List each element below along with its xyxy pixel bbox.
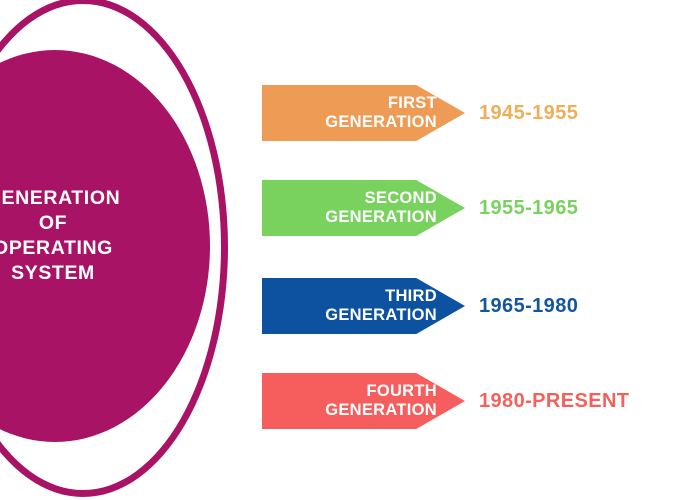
center-badge-group: GENERATION OF OPERATING SYSTEM (0, 0, 260, 500)
banner-label-line-1-fourth: FOURTH (366, 382, 456, 401)
generation-row-third: THIRD GENERATION 1965-1980 (262, 278, 578, 334)
period-text-second: 1955-1965 (479, 197, 578, 220)
banner-label-line-2-fourth: GENERATION (325, 401, 456, 420)
generation-row-second: SECOND GENERATION 1955-1965 (262, 180, 578, 236)
badge-title-line-4: SYSTEM (0, 261, 198, 286)
banner-label-line-2-third: GENERATION (325, 306, 456, 325)
generation-row-first: FIRST GENERATION 1945-1955 (262, 85, 578, 141)
banner-label-line-2-second: GENERATION (325, 208, 456, 227)
banner-arrow-second[interactable]: SECOND GENERATION (262, 180, 465, 236)
badge-title-line-3: OPERATING (0, 236, 198, 261)
generation-row-fourth: FOURTH GENERATION 1980-PRESENT (262, 373, 629, 429)
period-text-fourth: 1980-PRESENT (479, 390, 629, 413)
period-text-third: 1965-1980 (479, 295, 578, 318)
badge-title-line-2: OF (0, 211, 198, 236)
banner-label-line-1-third: THIRD (385, 287, 456, 306)
badge-title-line-1: GENERATION (0, 186, 198, 211)
banner-label-line-1-second: SECOND (365, 189, 456, 208)
banner-arrow-first[interactable]: FIRST GENERATION (262, 85, 465, 141)
badge-title: GENERATION OF OPERATING SYSTEM (0, 186, 198, 286)
period-text-first: 1945-1955 (479, 102, 578, 125)
banner-arrow-third[interactable]: THIRD GENERATION (262, 278, 465, 334)
infographic-canvas: GENERATION OF OPERATING SYSTEM FIRST GEN… (0, 0, 700, 500)
banner-arrow-fourth[interactable]: FOURTH GENERATION (262, 373, 465, 429)
banner-label-line-2-first: GENERATION (325, 113, 456, 132)
banner-label-line-1-first: FIRST (388, 94, 456, 113)
